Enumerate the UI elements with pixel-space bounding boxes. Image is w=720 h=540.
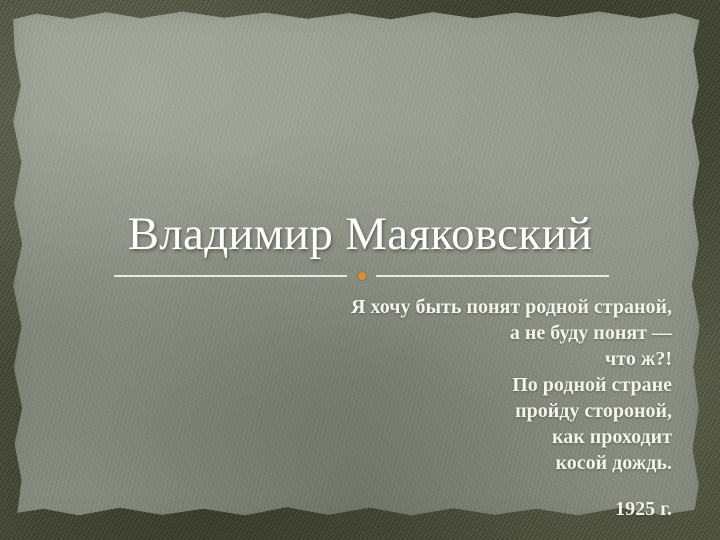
presentation-slide: Владимир Маяковский Я хочу быть понят ро…: [0, 0, 720, 540]
divider-line-left: [114, 275, 347, 277]
quote-line: пройду стороной,: [250, 398, 672, 424]
quote-line: что ж?!: [250, 346, 672, 372]
divider-dot-icon: [358, 272, 366, 280]
quote-year: 1925 г.: [250, 496, 672, 522]
quote-line: как проходит: [250, 424, 672, 450]
title-divider: [114, 270, 609, 283]
quote-line: По родной стране: [250, 372, 672, 398]
divider-line-right: [376, 275, 609, 277]
slide-title: Владимир Маяковский: [70, 206, 650, 262]
quote-line: косой дождь.: [250, 450, 672, 476]
poem-quote: Я хочу быть понят родной страной, а не б…: [250, 294, 672, 522]
quote-line: Я хочу быть понят родной страной,: [250, 294, 672, 320]
quote-line: а не буду понят —: [250, 320, 672, 346]
